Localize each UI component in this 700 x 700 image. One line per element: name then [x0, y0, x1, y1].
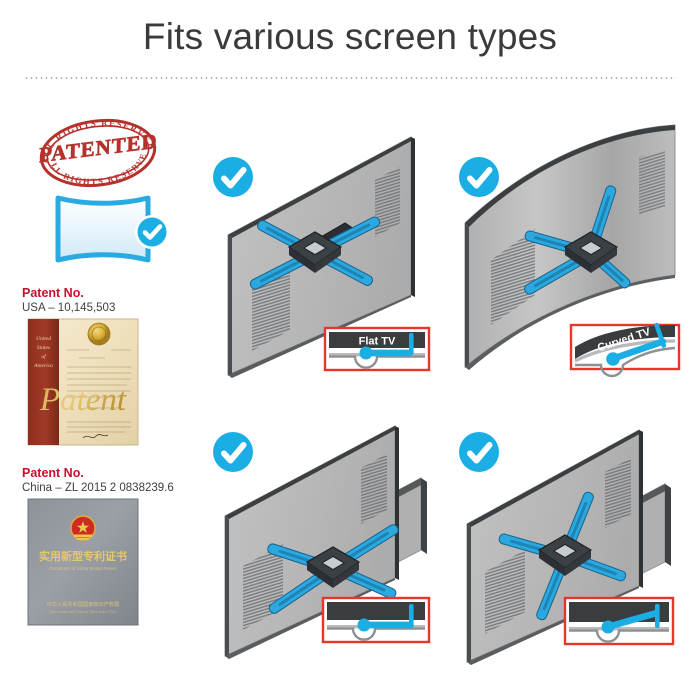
- svg-text:America: America: [33, 363, 53, 369]
- china-patent-certificate: 实用新型专利证书 Certificate of Utility Model Pa…: [27, 498, 139, 626]
- svg-text:United: United: [36, 336, 51, 342]
- callout-deep-base: [565, 598, 673, 644]
- china-national-emblem: [71, 516, 95, 540]
- flat-tv-panel: Flat TV: [195, 125, 435, 380]
- page-title: Fits various screen types: [0, 16, 700, 58]
- china-cert-footer-en: State Intellectual Property Office of th…: [49, 610, 117, 614]
- patent-number-china: China – ZL 2015 2 0838239.6: [22, 481, 182, 496]
- callout-thick-back: [323, 598, 429, 642]
- china-cert-footer-cn: 中华人民共和国国家知识产权局: [47, 600, 120, 608]
- patent-number-us: USA – 10,145,503: [22, 301, 182, 316]
- china-cert-heading-cn: 实用新型专利证书: [39, 549, 127, 563]
- check-badge-icon: [459, 432, 499, 472]
- vent-right: [639, 151, 665, 215]
- header-divider: [24, 77, 676, 79]
- patent-block-us: Patent No. USA – 10,145,503: [22, 286, 182, 316]
- patent-title-us: Patent No.: [22, 286, 182, 301]
- check-badge-icon: [135, 215, 169, 249]
- callout-flat-tv: Flat TV: [325, 328, 429, 370]
- flat-tv-deep-base-panel: [443, 420, 683, 675]
- patented-stamp-icon: ALL RIGHTS RESERVED ALL RIGHTS RESERVED …: [30, 118, 166, 188]
- svg-text:Patent: Patent: [39, 382, 127, 418]
- patent-title-china: Patent No.: [22, 466, 182, 481]
- curved-tv-panel: Curved TV: [443, 125, 683, 380]
- check-badge-icon: [213, 157, 253, 197]
- china-cert-heading-en: Certificate of Utility Model Patent: [49, 566, 117, 571]
- check-badge-icon: [459, 157, 499, 197]
- patent-block-china: Patent No. China – ZL 2015 2 0838239.6: [22, 466, 182, 496]
- flat-tv-thick-back-panel: [195, 420, 435, 675]
- check-badge-icon: [213, 432, 253, 472]
- us-patent-certificate: United States of America: [27, 318, 139, 446]
- callout-curved-tv: Curved TV: [571, 322, 679, 376]
- infographic-root: Fits various screen types ALL RIGHTS RES…: [0, 0, 700, 700]
- callout-label-flat-tv: Flat TV: [359, 336, 396, 348]
- stamp-center-label: PATENTED: [30, 188, 31, 189]
- patent-sidebar: ALL RIGHTS RESERVED ALL RIGHTS RESERVED …: [22, 118, 182, 658]
- curved-screen-icon: [52, 190, 174, 270]
- svg-text:States: States: [37, 345, 50, 351]
